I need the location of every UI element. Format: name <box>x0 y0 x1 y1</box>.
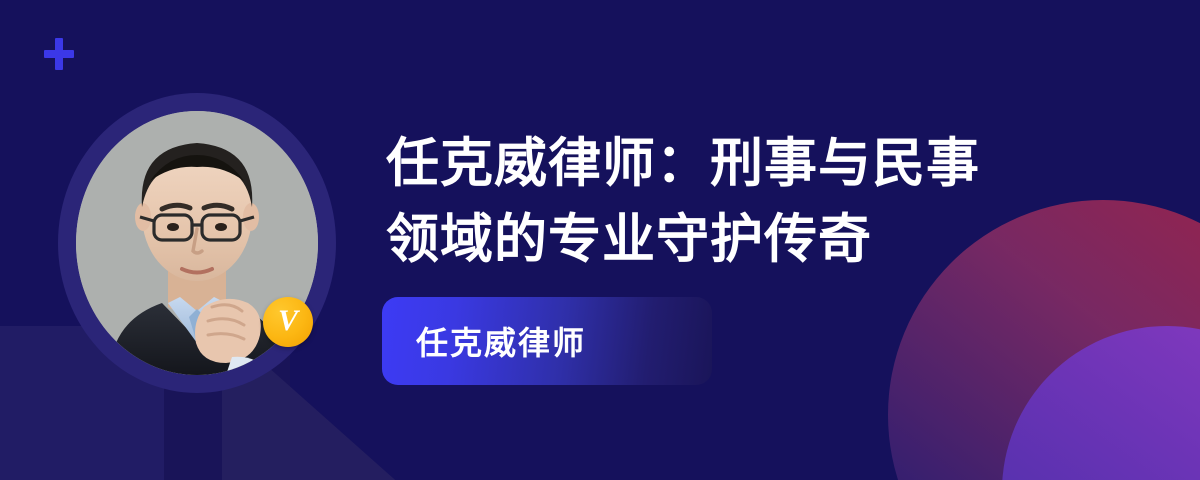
page-title: 任克威律师：刑事与民事 领域的专业守护传奇 <box>386 126 1106 278</box>
lawyer-name-button[interactable]: 任克威律师 <box>382 297 712 385</box>
plus-icon-bar-vertical <box>55 38 63 70</box>
verified-badge: V <box>263 297 313 347</box>
plus-icon <box>44 38 74 70</box>
avatar: V <box>58 93 336 393</box>
verified-badge-glyph: V <box>278 306 298 336</box>
promo-banner: V 任克威律师：刑事与民事 领域的专业守护传奇 任克威律师 <box>0 0 1200 480</box>
decorative-circle-violet <box>1002 326 1200 480</box>
headline-block: 任克威律师：刑事与民事 领域的专业守护传奇 <box>386 126 1106 278</box>
